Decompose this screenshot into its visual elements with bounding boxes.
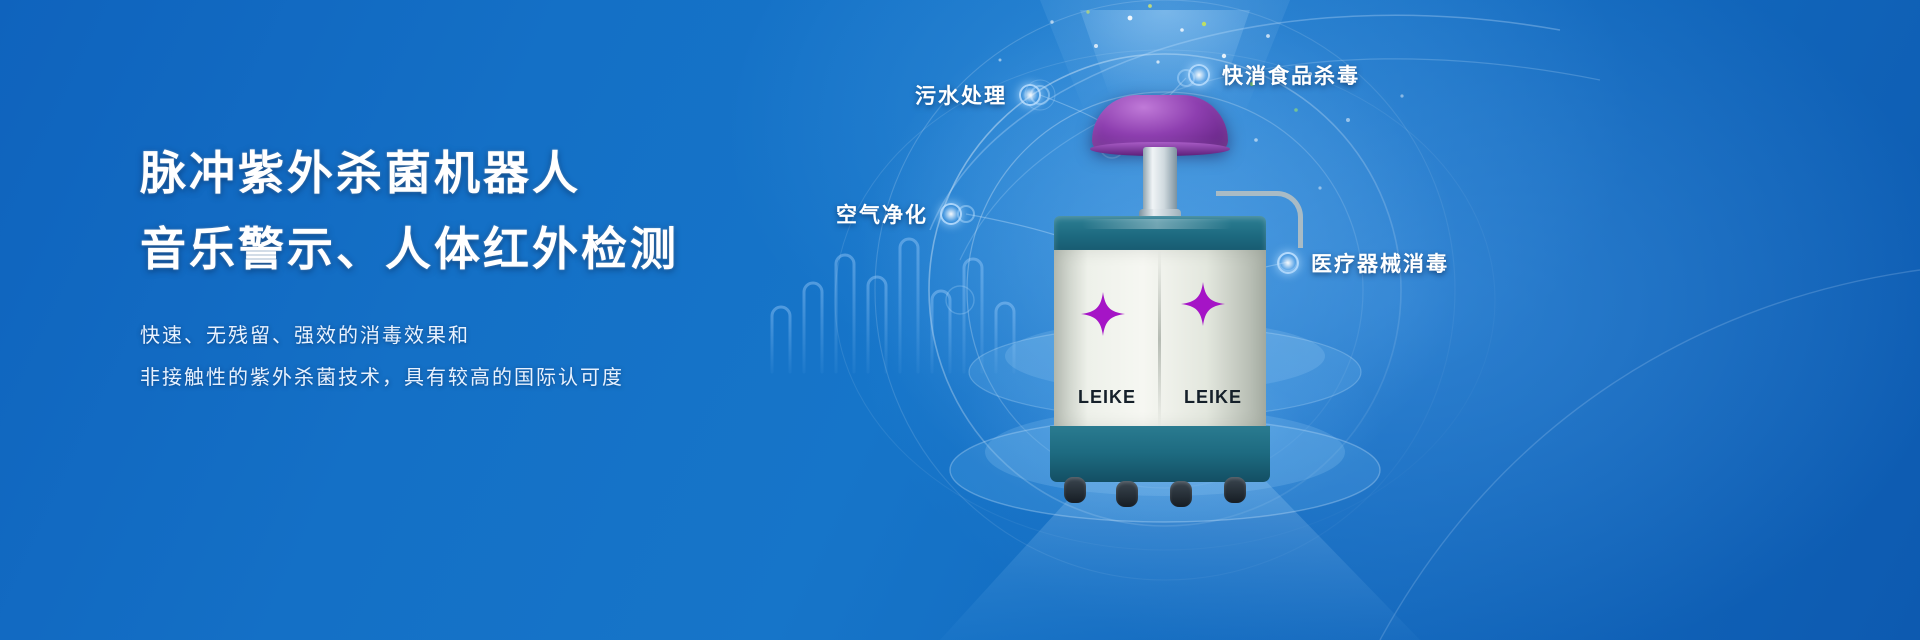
callout-label-medical: 医疗器械消毒 [1311, 248, 1449, 278]
subtitle-line2: 非接触性的紫外杀菌技术，具有较高的国际认可度 [140, 356, 840, 398]
device-wheel [1224, 477, 1246, 503]
subtitle-line1: 快速、无残留、强效的消毒效果和 [140, 314, 840, 356]
callout-medical[interactable]: 医疗器械消毒 [1277, 248, 1449, 278]
uv-sparkle-icon [1080, 291, 1126, 337]
uv-sparkle-icon [1180, 281, 1226, 327]
hero-banner: 脉冲紫外杀菌机器人 音乐警示、人体红外检测 快速、无残留、强效的消毒效果和 非接… [0, 0, 1920, 640]
device-body-highlight [1082, 219, 1232, 229]
device-wheel [1116, 481, 1138, 507]
node-dot-icon [940, 203, 962, 225]
node-dot-icon [1188, 64, 1210, 86]
callout-label-wastewater: 污水处理 [915, 80, 1007, 110]
callout-food[interactable]: 快消食品杀毒 [1188, 60, 1360, 90]
hero-text-block: 脉冲紫外杀菌机器人 音乐警示、人体红外检测 快速、无残留、强效的消毒效果和 非接… [140, 150, 840, 398]
brand-label-left: LEIKE [1078, 387, 1136, 408]
uv-disinfection-robot-image: LEIKE LEIKE [1020, 95, 1300, 495]
device-branding: LEIKE LEIKE [1054, 387, 1266, 408]
device-body-base [1050, 426, 1270, 482]
callout-label-air: 空气净化 [836, 199, 928, 229]
brand-label-right: LEIKE [1184, 387, 1242, 408]
device-wheel [1170, 481, 1192, 507]
callout-air[interactable]: 空气净化 [836, 199, 962, 229]
device-wheel [1064, 477, 1086, 503]
callout-label-food: 快消食品杀毒 [1222, 60, 1360, 90]
page-title-line2: 音乐警示、人体红外检测 [140, 226, 840, 272]
page-title-line1: 脉冲紫外杀菌机器人 [140, 150, 840, 196]
